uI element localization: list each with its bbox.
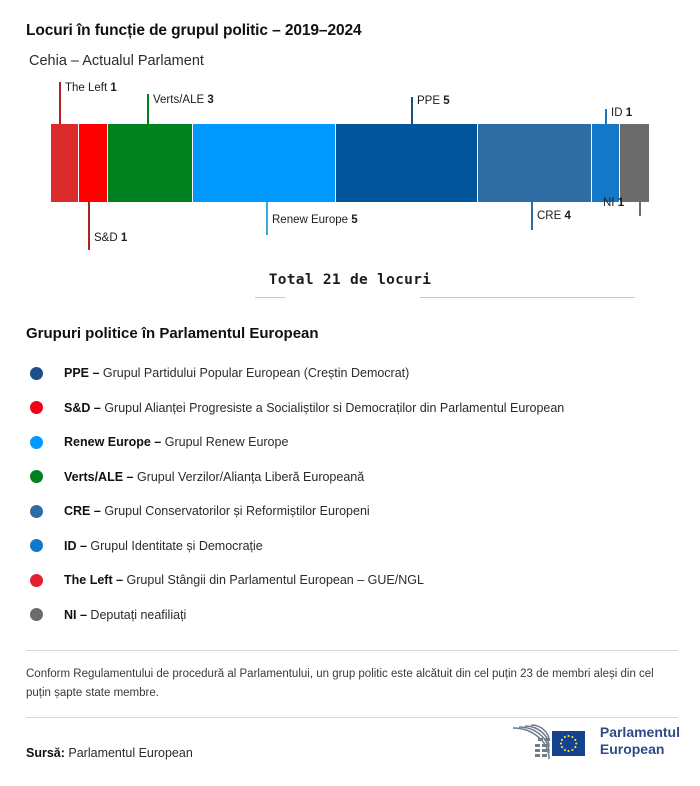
chart-header: Locuri în funcție de grupul politic – 20…	[0, 0, 700, 69]
legend-label-verts-ale: Verts/ALE – Grupul Verzilor/Alianța Libe…	[64, 470, 364, 484]
leader-line-cre	[531, 202, 533, 230]
legend-color-dot-renew-europe	[30, 436, 43, 449]
footnote-text: Conform Regulamentului de procedură al P…	[26, 665, 656, 703]
chart-subtitle: Cehia – Actualul Parlament	[26, 53, 700, 69]
legend-color-dot-verts-ale	[30, 470, 43, 483]
legend-color-dot-id	[30, 539, 43, 552]
bar-segment-the-left[interactable]	[51, 124, 79, 202]
bar-segment-ni[interactable]	[620, 124, 648, 202]
bar-segment-cre[interactable]	[478, 124, 592, 202]
leader-line-id	[605, 109, 607, 124]
leader-line-ni	[639, 202, 641, 216]
bar-label-sd: S&D 1	[94, 232, 127, 245]
legend-color-dot-ni	[30, 608, 43, 621]
european-parliament-logo: Parlamentul European	[505, 718, 680, 764]
bar-segment-verts-ale[interactable]	[108, 124, 193, 202]
footnote-divider-top	[26, 650, 678, 651]
legend-label-id: ID – Grupul Identitate și Democrație	[64, 539, 263, 553]
seat-distribution-chart: The Left 1 Verts/ALE 3 PPE 5 ID 1 S&D 1 …	[26, 69, 674, 269]
bar-label-ppe: PPE 5	[417, 95, 450, 108]
leader-line-the-left	[59, 82, 61, 124]
legend-item-ppe[interactable]: PPE – Grupul Partidului Popular European…	[26, 356, 700, 391]
leader-line-sd	[88, 202, 90, 250]
legend-label-ppe: PPE – Grupul Partidului Popular European…	[64, 366, 409, 380]
legend-label-cre: CRE – Grupul Conservatorilor și Reformiș…	[64, 504, 370, 518]
leader-line-ppe	[411, 97, 413, 124]
bar-segment-sd[interactable]	[79, 124, 107, 202]
total-divider-right	[420, 297, 635, 298]
bar-label-verts-ale: Verts/ALE 3	[153, 94, 214, 107]
legend-color-dot-the-left	[30, 574, 43, 587]
legend-color-dot-ppe	[30, 367, 43, 380]
legend-item-ni[interactable]: NI – Deputați neafiliați	[26, 598, 700, 633]
total-divider-left	[255, 297, 285, 298]
legend-item-renew-europe[interactable]: Renew Europe – Grupul Renew Europe	[26, 425, 700, 460]
legend-item-id[interactable]: ID – Grupul Identitate și Democrație	[26, 529, 700, 564]
legend-label-ni: NI – Deputați neafiliați	[64, 608, 186, 622]
hemicycle-icon	[505, 719, 591, 763]
bar-label-the-left: The Left 1	[65, 82, 117, 95]
total-seats-row: Total 21 de locuri	[0, 271, 700, 323]
source-row: Sursă: Parlamentul European	[26, 718, 680, 764]
bar-label-cre: CRE 4	[537, 210, 571, 223]
bar-label-renew-europe: Renew Europe 5	[272, 214, 358, 227]
legend-label-sd: S&D – Grupul Alianței Progresiste a Soci…	[64, 401, 564, 415]
source-label: Sursă: Parlamentul European	[26, 746, 193, 760]
bar-segment-id[interactable]	[592, 124, 620, 202]
logo-wordmark: Parlamentul European	[600, 724, 680, 757]
bar-label-id: ID 1	[611, 107, 632, 120]
logo-line-1: Parlamentul	[600, 724, 680, 741]
legend-label-the-left: The Left – Grupul Stângii din Parlamentu…	[64, 573, 424, 587]
legend-item-sd[interactable]: S&D – Grupul Alianței Progresiste a Soci…	[26, 391, 700, 426]
leader-line-verts-ale	[147, 94, 149, 124]
legend-title: Grupuri politice în Parlamentul European	[26, 325, 700, 342]
legend-item-the-left[interactable]: The Left – Grupul Stângii din Parlamentu…	[26, 563, 700, 598]
leader-line-renew-europe	[266, 202, 268, 235]
legend-color-dot-cre	[30, 505, 43, 518]
legend-item-verts-ale[interactable]: Verts/ALE – Grupul Verzilor/Alianța Libe…	[26, 460, 700, 495]
legend-color-dot-sd	[30, 401, 43, 414]
bar-segment-renew-europe[interactable]	[193, 124, 335, 202]
bar-segment-ppe[interactable]	[336, 124, 478, 202]
total-seats-label: Total 21 de locuri	[0, 271, 700, 291]
logo-line-2: European	[600, 741, 680, 758]
legend-label-renew-europe: Renew Europe – Grupul Renew Europe	[64, 435, 288, 449]
bar-label-ni: NI 1	[603, 197, 624, 210]
legend: Grupuri politice în Parlamentul European…	[0, 323, 700, 632]
stacked-bar	[51, 124, 649, 202]
page-title: Locuri în funcție de grupul politic – 20…	[26, 22, 700, 40]
legend-item-cre[interactable]: CRE – Grupul Conservatorilor și Reformiș…	[26, 494, 700, 529]
